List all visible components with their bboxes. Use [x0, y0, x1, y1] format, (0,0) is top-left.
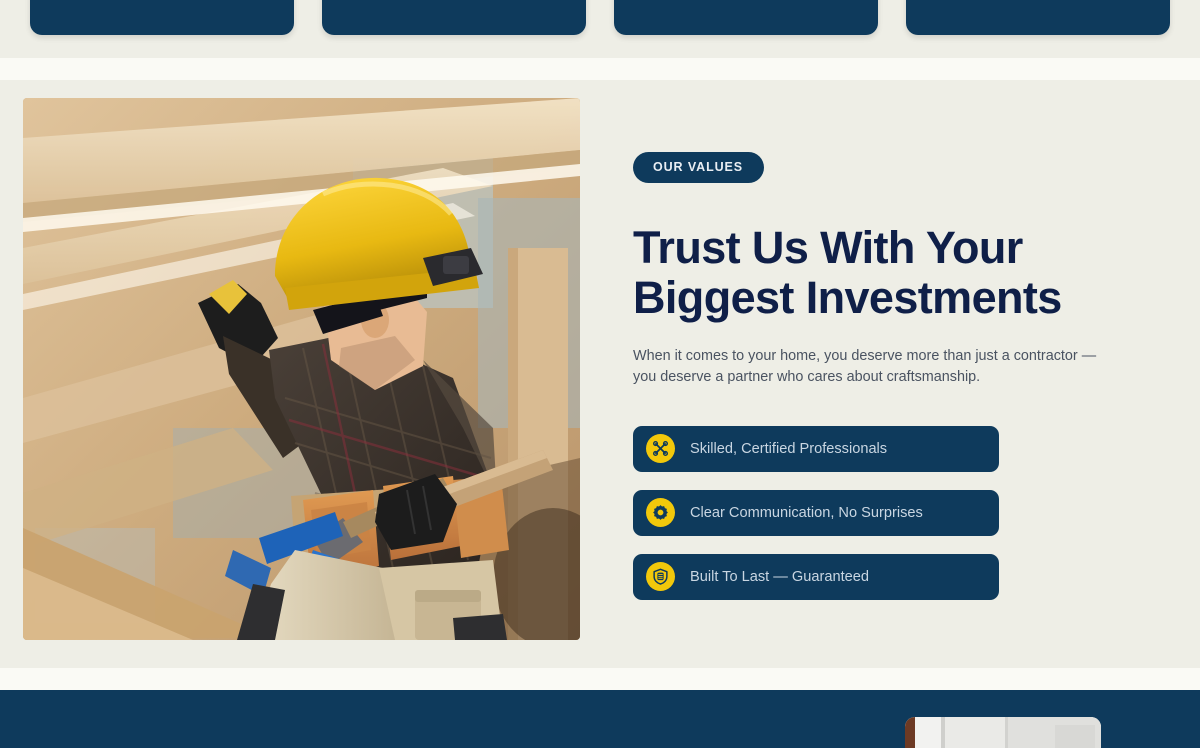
construction-worker-photo: [23, 98, 580, 640]
values-section: OUR VALUES Trust Us With Your Biggest In…: [0, 80, 1200, 668]
bottom-section: [0, 690, 1200, 748]
feature-item-built-to-last[interactable]: Built To Last — Guaranteed: [633, 554, 999, 600]
section-subtext: When it comes to your home, you deserve …: [633, 346, 1105, 387]
feature-label: Clear Communication, No Surprises: [690, 505, 923, 521]
shield-icon: [646, 562, 675, 591]
gear-icon: [646, 498, 675, 527]
section-badge: OUR VALUES: [633, 152, 764, 183]
feature-item-clear-communication[interactable]: Clear Communication, No Surprises: [633, 490, 999, 536]
feature-list: Skilled, Certified Professionals Clear C…: [633, 426, 1153, 600]
section-divider-top: [0, 58, 1200, 80]
values-content: OUR VALUES Trust Us With Your Biggest In…: [633, 152, 1153, 600]
page-root: OUR VALUES Trust Us With Your Biggest In…: [0, 0, 1200, 748]
interior-photo: [905, 717, 1101, 748]
feature-label: Built To Last — Guaranteed: [690, 569, 869, 585]
nav-card-4[interactable]: [906, 0, 1170, 35]
feature-item-skilled-professionals[interactable]: Skilled, Certified Professionals: [633, 426, 999, 472]
feature-label: Skilled, Certified Professionals: [690, 441, 887, 457]
nav-card-1[interactable]: [30, 0, 294, 35]
nav-card-3[interactable]: [614, 0, 878, 35]
top-cards-row: [0, 0, 1200, 35]
crossed-wrenches-icon: [646, 434, 675, 463]
top-cards-strip: [0, 0, 1200, 58]
section-divider-bottom: [0, 668, 1200, 690]
page-title: Trust Us With Your Biggest Investments: [633, 223, 1103, 325]
nav-card-2[interactable]: [322, 0, 586, 35]
